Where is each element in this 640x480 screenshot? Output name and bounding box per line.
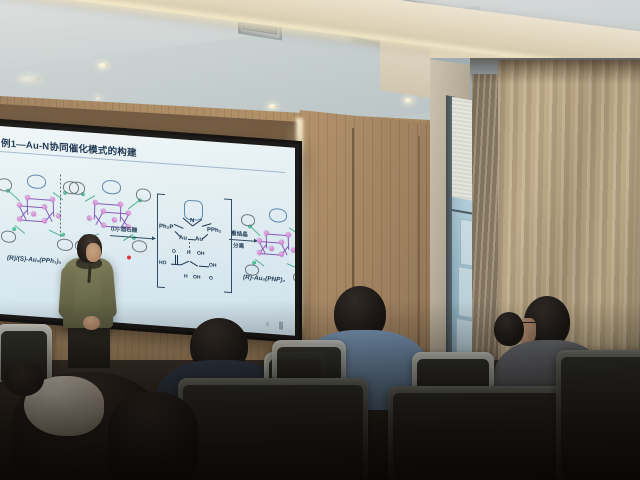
molecule-left-cluster-mirror	[0, 164, 63, 257]
audience-head-5	[494, 312, 524, 346]
downlight-icon	[404, 98, 413, 103]
seat-back	[178, 378, 368, 480]
molecule-tartaric-acid: HO O H OH H OH O OH	[159, 246, 227, 291]
curtain-top-shadow	[470, 58, 640, 84]
projection-screen: 例1—Au-N协同催化模式的构建	[0, 118, 302, 343]
downlight-icon	[98, 63, 108, 68]
downlight-icon	[268, 104, 277, 109]
atom-label-Ph2P: Ph₂P	[159, 224, 173, 231]
molecule-label-left: (R)/(S)-Au₈(PPh₃)₈	[7, 255, 61, 266]
downlight-icon	[95, 97, 101, 100]
atom-label-PPh2: PPh₂	[207, 227, 221, 234]
slide-title-underline	[0, 151, 285, 173]
audience-head-1c	[4, 362, 44, 396]
seat-back	[556, 350, 640, 480]
slide-corner-marker	[279, 322, 283, 330]
reaction-arrow-left-head	[152, 236, 156, 240]
presenter-face	[86, 243, 101, 262]
downlight-icon	[18, 76, 40, 82]
slide-page-number: 8	[266, 322, 269, 328]
audience-head-1b	[108, 392, 198, 480]
highlight-marker	[127, 255, 131, 259]
seat-back	[272, 340, 346, 380]
screenshot-root: 例1—Au-N协同催化模式的构建	[0, 0, 640, 480]
arrow-label-right-line2: 分离	[233, 241, 244, 250]
presenter-hands	[83, 316, 100, 330]
slide-surface: 例1—Au-N协同催化模式的构建	[0, 126, 295, 336]
molecule-right-cluster	[245, 200, 295, 285]
